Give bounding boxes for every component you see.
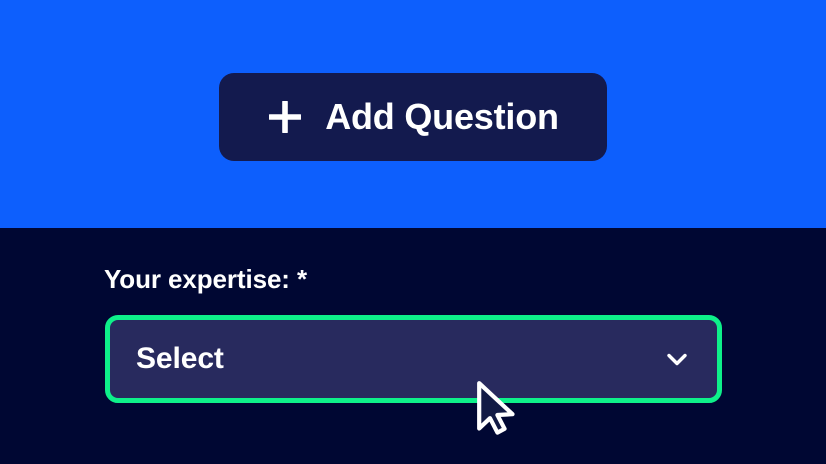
chevron-down-icon[interactable]	[664, 346, 690, 372]
screen-root: Add Question Your expertise: * Select	[0, 0, 826, 464]
plus-icon	[267, 99, 303, 135]
add-question-button[interactable]: Add Question	[219, 73, 607, 161]
add-question-button-label: Add Question	[325, 99, 559, 135]
expertise-field-label: Your expertise: *	[104, 266, 307, 292]
hero-band: Add Question	[0, 0, 826, 228]
expertise-select-value: Select	[136, 344, 664, 374]
expertise-select[interactable]: Select	[105, 315, 722, 403]
